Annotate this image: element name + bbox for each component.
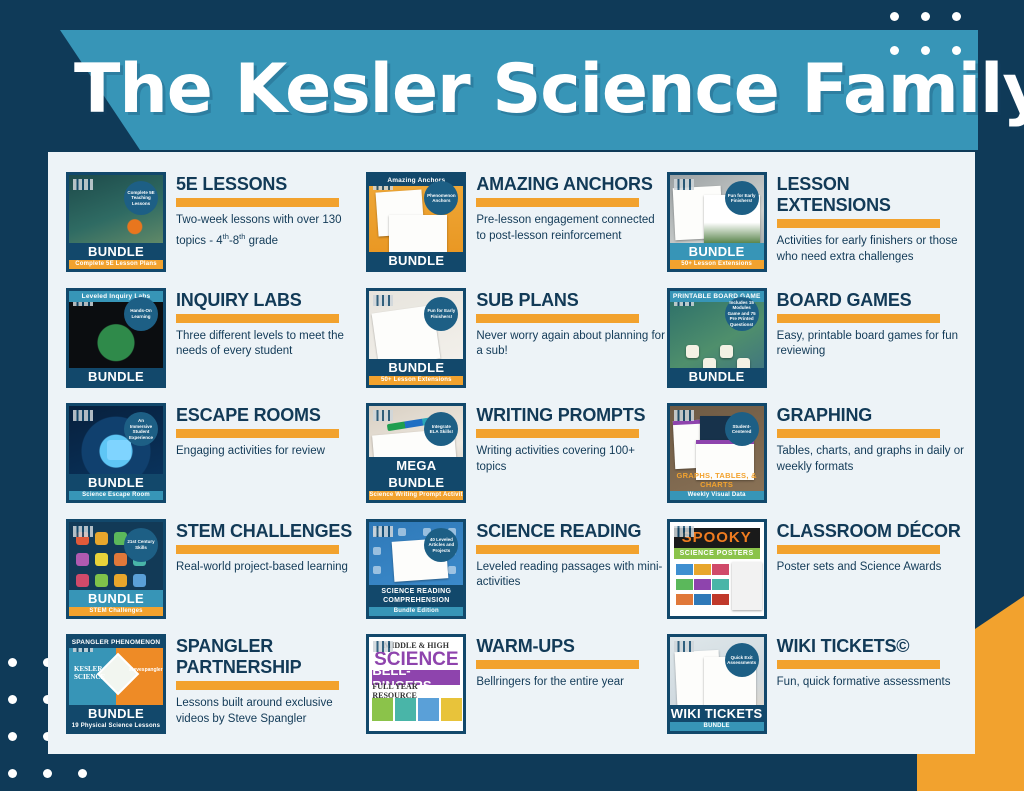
product-title: STEM CHALLENGES bbox=[176, 521, 366, 542]
product-description: Engaging activities for review bbox=[176, 444, 366, 460]
product-thumbnail[interactable]: Fun for Early Finishers!50+ Lesson Exten… bbox=[667, 172, 767, 272]
product-item[interactable]: An Immersive Student ExperienceScience E… bbox=[66, 397, 366, 513]
thumbnail-caption: WIKI TICKETS bbox=[670, 705, 764, 722]
content-card: Complete 5E Teaching LessonsComplete 5E … bbox=[48, 152, 975, 754]
product-thumbnail[interactable]: Fun for Early Finishers!50+ Lesson Exten… bbox=[366, 288, 466, 388]
product-item[interactable]: KESLER SCIENCEstevespanglerSPANGLER PHEN… bbox=[66, 628, 366, 744]
thumbnail-subbar: BUNDLE bbox=[670, 722, 764, 731]
poster-thumb bbox=[712, 579, 729, 590]
product-text: 5E LESSONSTwo-week lessons with over 130… bbox=[176, 172, 366, 249]
product-thumbnail[interactable]: SPOOKYSCIENCE POSTERSSPOOKY SCIENCE POST… bbox=[667, 519, 767, 619]
product-title: BOARD GAMES bbox=[777, 290, 967, 311]
kesler-science-logo-icon bbox=[373, 526, 393, 537]
title-underline-bar bbox=[476, 429, 639, 438]
product-title: SPANGLER PARTNERSHIP bbox=[176, 636, 366, 678]
thumbnail-badge: An Immersive Student Experience bbox=[124, 412, 158, 446]
product-text: GRAPHINGTables, charts, and graphs in da… bbox=[777, 403, 967, 475]
thumbnail-subbar: Bundle Edition bbox=[369, 607, 463, 616]
product-description: Leveled reading passages with mini-activ… bbox=[476, 560, 666, 591]
product-item[interactable]: Integrate ELA Skills!Science Writing Pro… bbox=[366, 397, 666, 513]
spangler-logo: stevespangler bbox=[129, 667, 159, 673]
thumbnail-badge: Fun for Early Finishers! bbox=[725, 181, 759, 215]
stem-icon bbox=[95, 553, 108, 566]
thumbnail-caption: BUNDLE bbox=[69, 705, 163, 722]
decorative-dot bbox=[921, 12, 930, 21]
thumbnail-sheet bbox=[732, 562, 762, 610]
science-doodle bbox=[373, 566, 381, 574]
product-description: Easy, printable board games for fun revi… bbox=[777, 329, 967, 360]
decorative-dot bbox=[8, 658, 17, 667]
product-text: SCIENCE READINGLeveled reading passages … bbox=[476, 519, 666, 591]
thumbnail-caption: BUNDLE bbox=[670, 243, 764, 260]
thumbnail-caption: BUNDLE bbox=[69, 243, 163, 260]
title-underline-bar bbox=[777, 545, 940, 554]
product-text: WRITING PROMPTSWriting activities coveri… bbox=[476, 403, 666, 475]
decorative-dot bbox=[890, 12, 899, 21]
dice bbox=[686, 345, 699, 358]
thumbnail-badge: 21st Century Skills bbox=[124, 528, 158, 562]
product-thumbnail[interactable]: Student-CenteredWeekly Visual DataGRAPHS… bbox=[667, 403, 767, 503]
kesler-science-logo-icon bbox=[674, 179, 694, 190]
product-text: CLASSROOM DÉCORPoster sets and Science A… bbox=[777, 519, 967, 576]
poster-thumb bbox=[676, 579, 693, 590]
decorative-dot bbox=[8, 695, 17, 704]
title-underline-bar bbox=[476, 314, 639, 323]
product-description: Two-week lessons with over 130 topics - … bbox=[176, 213, 366, 249]
product-thumbnail[interactable]: Integrate ELA Skills!Science Writing Pro… bbox=[366, 403, 466, 503]
thumbnail-subbar: 19 Physical Science Lessons bbox=[69, 722, 163, 731]
product-thumbnail[interactable]: MIDDLE & HIGHSCIENCEBELL-RINGERSFULL YEA… bbox=[366, 634, 466, 734]
kesler-science-logo-icon bbox=[73, 526, 93, 537]
cover-thumb bbox=[441, 698, 462, 721]
product-description: Never worry again about planning for a s… bbox=[476, 329, 666, 360]
product-thumbnail[interactable]: KESLER SCIENCEstevespanglerSPANGLER PHEN… bbox=[66, 634, 166, 734]
thumbnail-subbar: 50+ Lesson Extensions bbox=[369, 376, 463, 385]
kesler-science-logo-icon bbox=[674, 526, 694, 537]
thumbnail-subbar: Complete 5E Lesson Plans bbox=[69, 260, 163, 269]
decorative-dot bbox=[78, 769, 87, 778]
product-thumbnail[interactable]: PRINTABLE BOARD GAMEIncludes 15 Modules … bbox=[667, 288, 767, 388]
title-underline-bar bbox=[176, 314, 339, 323]
thumbnail-caption: BUNDLE bbox=[670, 368, 764, 385]
product-thumbnail[interactable]: Leveled Inquiry LabsHands-On LearningBUN… bbox=[66, 288, 166, 388]
stem-icon bbox=[114, 574, 127, 587]
cover-line-4: FULL YEAR RESOURCE bbox=[372, 686, 460, 696]
product-item[interactable]: Student-CenteredWeekly Visual DataGRAPHS… bbox=[667, 397, 967, 513]
product-item[interactable]: Leveled Inquiry LabsHands-On LearningBUN… bbox=[66, 282, 366, 398]
poster-thumb bbox=[676, 564, 693, 575]
poster-thumb bbox=[676, 594, 693, 605]
stem-icon bbox=[114, 553, 127, 566]
decorative-dot bbox=[8, 732, 17, 741]
thumbnail-caption: MEGA BUNDLE bbox=[369, 457, 463, 491]
stem-icon bbox=[95, 574, 108, 587]
title-underline-bar bbox=[176, 429, 339, 438]
dice bbox=[720, 345, 733, 358]
thumbnail-badge: Hands-On Learning bbox=[124, 297, 158, 331]
product-text: STEM CHALLENGESReal-world project-based … bbox=[176, 519, 366, 576]
product-text: LESSON EXTENSIONSActivities for early fi… bbox=[777, 172, 967, 265]
product-item[interactable]: Quick Exit AssessmentsBUNDLEWIKI TICKETS… bbox=[667, 628, 967, 744]
product-title: GRAPHING bbox=[777, 405, 967, 426]
science-doodle bbox=[373, 547, 381, 555]
kesler-science-logo-icon bbox=[373, 641, 393, 652]
thumbnail-badge: Student-Centered bbox=[725, 412, 759, 446]
product-text: BOARD GAMESEasy, printable board games f… bbox=[777, 288, 967, 360]
product-description: Pre-lesson engagement connected to post-… bbox=[476, 213, 666, 244]
science-doodle bbox=[398, 528, 406, 536]
thumbnail-caption: BUNDLE bbox=[369, 252, 463, 269]
product-text: INQUIRY LABSThree different levels to me… bbox=[176, 288, 366, 360]
thumbnail-badge: Fun for Early Finishers! bbox=[424, 297, 458, 331]
title-underline-bar bbox=[476, 545, 639, 554]
kesler-science-logo-icon bbox=[373, 295, 393, 306]
kesler-science-logo-icon bbox=[674, 410, 694, 421]
product-title: LESSON EXTENSIONS bbox=[777, 174, 967, 216]
thumbnail-subbar: STEM Challenges bbox=[69, 607, 163, 616]
product-thumbnail[interactable]: Quick Exit AssessmentsBUNDLEWIKI TICKETS bbox=[667, 634, 767, 734]
product-description: Three different levels to meet the needs… bbox=[176, 329, 366, 360]
cover-thumb bbox=[418, 698, 439, 721]
product-thumbnail[interactable]: An Immersive Student ExperienceScience E… bbox=[66, 403, 166, 503]
thumbnail-caption: BUNDLE bbox=[69, 474, 163, 491]
kesler-logo: KESLER SCIENCE bbox=[74, 665, 102, 681]
product-title: INQUIRY LABS bbox=[176, 290, 366, 311]
product-item[interactable]: Amazing AnchorsPhenomenon AnchorsBUNDLEA… bbox=[366, 166, 666, 282]
thumbnail-subbar: Weekly Visual Data bbox=[670, 491, 764, 500]
product-title: ESCAPE ROOMS bbox=[176, 405, 366, 426]
cover-thumb bbox=[395, 698, 416, 721]
thumbnail-subbar: Science Escape Room bbox=[69, 491, 163, 500]
poster-thumb bbox=[694, 564, 711, 575]
decorative-dot bbox=[952, 12, 961, 21]
product-title: SUB PLANS bbox=[476, 290, 666, 311]
title-underline-bar bbox=[777, 429, 940, 438]
product-item[interactable]: Fun for Early Finishers!50+ Lesson Exten… bbox=[667, 166, 967, 282]
product-thumbnail[interactable]: 40 Leveled Articles and ProjectsBundle E… bbox=[366, 519, 466, 619]
product-text: SUB PLANSNever worry again about plannin… bbox=[476, 288, 666, 360]
title-underline-bar bbox=[176, 198, 339, 207]
title-underline-bar bbox=[476, 660, 639, 669]
product-title: SCIENCE READING bbox=[476, 521, 666, 542]
product-text: AMAZING ANCHORSPre-lesson engagement con… bbox=[476, 172, 666, 244]
product-thumbnail[interactable]: 21st Century SkillsSTEM ChallengesBUNDLE bbox=[66, 519, 166, 619]
title-underline-bar bbox=[777, 314, 940, 323]
thumbnail-badge: 40 Leveled Articles and Projects bbox=[424, 528, 458, 562]
product-description: Poster sets and Science Awards bbox=[777, 560, 967, 576]
title-underline-bar bbox=[777, 219, 940, 228]
stem-icon bbox=[76, 574, 89, 587]
lock-icon bbox=[107, 440, 131, 460]
product-item[interactable]: 21st Century SkillsSTEM ChallengesBUNDLE… bbox=[66, 513, 366, 629]
product-title: WARM-UPS bbox=[476, 636, 666, 657]
thumbnail-caption: SCIENCE READING COMPREHENSION bbox=[369, 585, 463, 607]
thumbnail-sheet bbox=[389, 215, 447, 253]
product-title: WIKI TICKETS© bbox=[777, 636, 967, 657]
thumbnail-badge: Quick Exit Assessments bbox=[725, 643, 759, 677]
product-thumbnail[interactable]: Amazing AnchorsPhenomenon AnchorsBUNDLE bbox=[366, 172, 466, 272]
thumbnail-caption: BUNDLE bbox=[369, 359, 463, 376]
product-item[interactable]: SPOOKYSCIENCE POSTERSSPOOKY SCIENCE POST… bbox=[667, 513, 967, 629]
kesler-science-logo-icon bbox=[674, 641, 694, 652]
product-description: Tables, charts, and graphs in daily or w… bbox=[777, 444, 967, 475]
product-item[interactable]: Complete 5E Teaching LessonsComplete 5E … bbox=[66, 166, 366, 282]
kesler-science-logo-icon bbox=[373, 410, 393, 421]
title-underline-bar bbox=[476, 198, 639, 207]
poster-subtitle: SCIENCE POSTERS bbox=[674, 548, 760, 559]
product-title: AMAZING ANCHORS bbox=[476, 174, 666, 195]
product-description: Lessons built around exclusive videos by… bbox=[176, 696, 366, 727]
poster-thumb bbox=[712, 594, 729, 605]
title-underline-bar bbox=[176, 545, 339, 554]
cover-thumb bbox=[372, 698, 393, 721]
product-title: WRITING PROMPTS bbox=[476, 405, 666, 426]
product-text: WIKI TICKETS©Fun, quick formative assess… bbox=[777, 634, 967, 691]
thumbnail-caption: GRAPHS, TABLES, & CHARTS bbox=[670, 471, 764, 489]
product-text: ESCAPE ROOMSEngaging activities for revi… bbox=[176, 403, 366, 460]
thumbnail-caption: BUNDLE bbox=[69, 368, 163, 385]
product-text: WARM-UPSBellringers for the entire year bbox=[476, 634, 666, 691]
title-underline-bar bbox=[176, 681, 339, 690]
thumbnail-subbar: 50+ Lesson Extensions bbox=[670, 260, 764, 269]
poster-thumb bbox=[694, 594, 711, 605]
stem-icon bbox=[95, 532, 108, 545]
science-doodle bbox=[448, 566, 456, 574]
product-item[interactable]: MIDDLE & HIGHSCIENCEBELL-RINGERSFULL YEA… bbox=[366, 628, 666, 744]
product-description: Activities for early finishers or those … bbox=[777, 234, 967, 265]
thumbnail-caption: BUNDLE bbox=[69, 590, 163, 607]
product-title: 5E LESSONS bbox=[176, 174, 366, 195]
decorative-dot bbox=[43, 769, 52, 778]
thumbnail-subbar: Science Writing Prompt Activities bbox=[369, 491, 463, 500]
kesler-science-logo-icon bbox=[73, 179, 93, 190]
page-title: The Kesler Science Family bbox=[74, 42, 1024, 138]
poster-thumb bbox=[694, 579, 711, 590]
product-item[interactable]: PRINTABLE BOARD GAMEIncludes 15 Modules … bbox=[667, 282, 967, 398]
stem-icon bbox=[133, 574, 146, 587]
poster-thumb bbox=[712, 564, 729, 575]
kesler-science-logo-icon bbox=[73, 410, 93, 421]
product-text: SPANGLER PARTNERSHIPLessons built around… bbox=[176, 634, 366, 727]
thumbnail-badge: Complete 5E Teaching Lessons bbox=[124, 181, 158, 215]
product-description: Bellringers for the entire year bbox=[476, 675, 666, 691]
thumbnail-topbar: SPANGLER PHENOMENON bbox=[69, 637, 163, 648]
stem-icon bbox=[76, 553, 89, 566]
product-title: CLASSROOM DÉCOR bbox=[777, 521, 967, 542]
decorative-dot bbox=[8, 769, 17, 778]
thumbnail-badge: Includes 15 Modules Game and 75 Pre Prin… bbox=[725, 297, 759, 331]
title-underline-bar bbox=[777, 660, 940, 669]
product-item[interactable]: 40 Leveled Articles and ProjectsBundle E… bbox=[366, 513, 666, 629]
product-item[interactable]: Fun for Early Finishers!50+ Lesson Exten… bbox=[366, 282, 666, 398]
product-grid: Complete 5E Teaching LessonsComplete 5E … bbox=[48, 152, 975, 754]
product-description: Writing activities covering 100+ topics bbox=[476, 444, 666, 475]
product-description: Fun, quick formative assessments bbox=[777, 675, 967, 691]
product-thumbnail[interactable]: Complete 5E Teaching LessonsComplete 5E … bbox=[66, 172, 166, 272]
product-description: Real-world project-based learning bbox=[176, 560, 366, 576]
